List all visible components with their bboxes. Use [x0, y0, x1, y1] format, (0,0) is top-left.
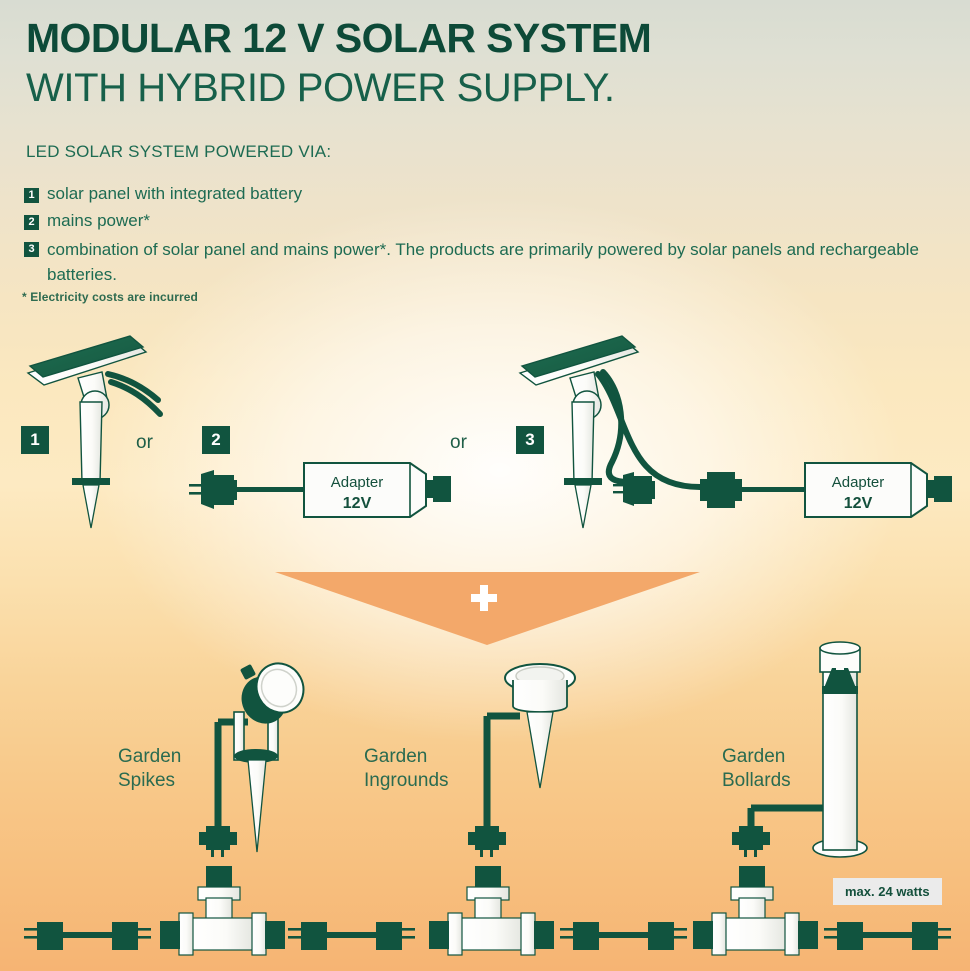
- product-label-line1: Garden: [722, 745, 791, 769]
- t-connector-1: [160, 866, 285, 955]
- cable-segment-4: [824, 922, 951, 950]
- t-connector-2: [429, 866, 554, 955]
- adapter-right-label-line2: 12V: [844, 495, 873, 512]
- bullet-label-2: mains power*: [47, 211, 150, 231]
- adapter-right: Adapter 12V: [805, 463, 952, 517]
- option-badge-2: 2: [202, 426, 230, 454]
- lead-text: LED SOLAR SYSTEM POWERED VIA:: [26, 142, 331, 162]
- bullet-item-2: 2 mains power*: [24, 211, 150, 231]
- adapter-left-label-line2: 12V: [343, 495, 372, 512]
- bullet-badge-1: 1: [24, 188, 39, 203]
- option-badge-1: 1: [21, 426, 49, 454]
- t-connector-3: [693, 866, 818, 955]
- product-label-garden-spikes: Garden Spikes: [118, 745, 181, 794]
- solar-panel-unit-3: [520, 336, 700, 528]
- adapter-right-label-line1: Adapter: [832, 474, 885, 491]
- mains-plug-left: [189, 470, 304, 509]
- bullet-badge-2: 2: [24, 215, 39, 230]
- cable-coupler-right: [700, 472, 805, 508]
- page-title-line1: MODULAR 12 V SOLAR SYSTEM: [26, 18, 651, 59]
- garden-spike-fixture: [199, 655, 312, 857]
- mains-plug-right: [613, 472, 655, 506]
- adapter-left: Adapter 12V: [304, 463, 451, 517]
- product-label-garden-bollards: Garden Bollards: [722, 745, 791, 794]
- bullet-badge-3: 3: [24, 242, 39, 257]
- cable-segment-1: [24, 922, 151, 950]
- product-label-line2: Bollards: [722, 769, 791, 793]
- product-label-line1: Garden: [118, 745, 181, 769]
- footnote-text: * Electricity costs are incurred: [22, 290, 198, 304]
- infographic-canvas: MODULAR 12 V SOLAR SYSTEM WITH HYBRID PO…: [0, 0, 970, 971]
- product-label-garden-ingrounds: Garden Ingrounds: [364, 745, 449, 794]
- max-power-badge: max. 24 watts: [833, 878, 942, 905]
- product-label-line2: Ingrounds: [364, 769, 449, 793]
- page-title-line2: WITH HYBRID POWER SUPPLY.: [26, 68, 615, 108]
- cable-segment-3: [560, 922, 687, 950]
- or-separator-2: or: [450, 432, 467, 454]
- or-separator-1: or: [136, 432, 153, 454]
- plus-icon: [471, 585, 497, 611]
- option-badge-3: 3: [516, 426, 544, 454]
- product-label-line1: Garden: [364, 745, 449, 769]
- bullet-item-3: 3 combination of solar panel and mains p…: [24, 238, 944, 287]
- bullet-item-1: 1 solar panel with integrated battery: [24, 184, 302, 204]
- cable-segment-2: [288, 922, 415, 950]
- adapter-left-label-line1: Adapter: [331, 474, 384, 491]
- product-label-line2: Spikes: [118, 769, 181, 793]
- garden-inground-fixture: [468, 664, 575, 857]
- bullet-label-1: solar panel with integrated battery: [47, 184, 302, 204]
- bullet-label-3: combination of solar panel and mains pow…: [47, 238, 944, 287]
